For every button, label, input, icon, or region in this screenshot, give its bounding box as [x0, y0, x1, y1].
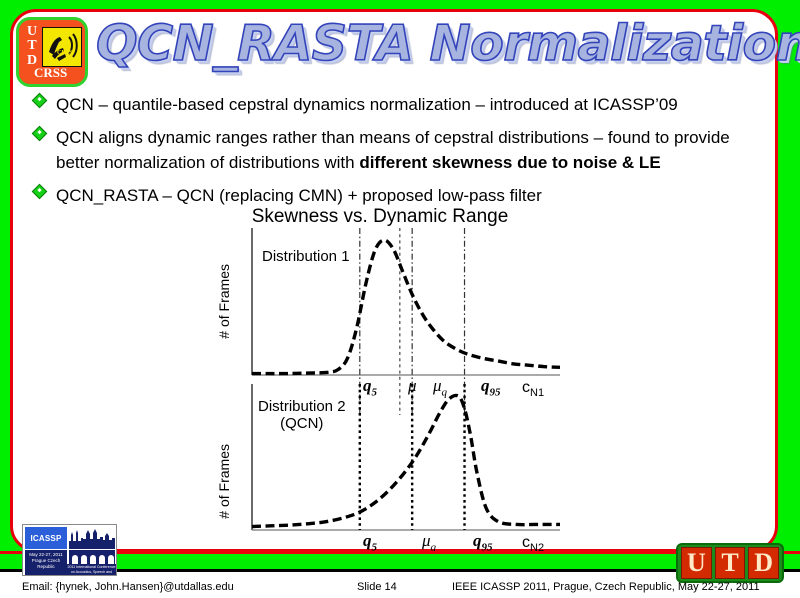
- page-title: QCN_RASTA Normalization: [96, 13, 756, 79]
- prague-skyline-icon: [69, 527, 115, 549]
- list-item: QCN – quantile-based cepstral dynamics n…: [34, 92, 764, 117]
- utd-letter-t: T: [27, 39, 36, 53]
- crss-label: CRSS: [34, 65, 67, 81]
- bullet-emphasis: different skewness due to noise & LE: [359, 153, 660, 172]
- diamond-bullet-icon: [34, 183, 56, 199]
- diamond-bullet-icon: [34, 125, 56, 141]
- icassp-conference-line: 2011 International Conference on Acousti…: [67, 564, 116, 575]
- utd-logo-d: D: [748, 547, 779, 579]
- utd-crss-letters: U T D: [24, 25, 40, 68]
- utd-letter-u: U: [27, 25, 37, 39]
- icassp-dates-label: May 22-27, 2011 Prague Czech Republic: [25, 550, 67, 575]
- chart-panel1-tick-muq: μq: [433, 376, 447, 398]
- bullet-text-3: QCN_RASTA – QCN (replacing CMN) + propos…: [56, 183, 764, 208]
- footer-email: Email: {hynek, John.Hansen}@utdallas.edu: [22, 581, 234, 593]
- utd-logo: U T D: [676, 543, 784, 583]
- chart-skewness-vs-dynamic-range: Skewness vs. Dynamic Range # of Frames #…: [200, 206, 560, 551]
- list-item: QCN_RASTA – QCN (replacing CMN) + propos…: [34, 183, 764, 208]
- chart-panel1-curve: [252, 240, 560, 373]
- list-item: QCN aligns dynamic ranges rather than me…: [34, 125, 764, 175]
- utd-logo-t: T: [715, 547, 746, 579]
- chart-panel1-xlabel: cN1: [522, 379, 544, 399]
- chart-panel1-tick-q95: q95: [481, 376, 501, 398]
- bullet-text-1: QCN – quantile-based cepstral dynamics n…: [56, 92, 764, 117]
- footer-conference: IEEE ICASSP 2011, Prague, Czech Republic…: [452, 581, 760, 593]
- chart-plot-svg: [200, 206, 560, 551]
- icassp-badge-label: ICASSP: [25, 527, 67, 549]
- charles-bridge-icon: [69, 550, 115, 564]
- diamond-bullet-icon: [34, 92, 56, 108]
- utd-logo-u: U: [681, 547, 712, 579]
- utd-crss-logo: U T D CRSS CRSS: [16, 17, 88, 87]
- crss-emblem-icon: CRSS: [42, 27, 82, 67]
- chart-panel1-tick-mu: μ: [408, 376, 417, 396]
- chart-panel2-curve: [252, 395, 560, 526]
- icassp-logo: ICASSP May 22-27, 2011 Prague Czech Repu…: [22, 524, 117, 576]
- slide-canvas: U T D CRSS CRSS QCN_RASTA Normalization …: [0, 0, 800, 598]
- bullet-list: QCN – quantile-based cepstral dynamics n…: [34, 92, 764, 216]
- footer-slide-number: Slide 14: [357, 581, 397, 593]
- speech-waves-icon: CRSS: [43, 28, 81, 66]
- chart-panel1-tick-q5: q5: [363, 376, 377, 398]
- svg-text:CRSS: CRSS: [57, 50, 73, 56]
- bullet-text-2: QCN aligns dynamic ranges rather than me…: [56, 125, 764, 175]
